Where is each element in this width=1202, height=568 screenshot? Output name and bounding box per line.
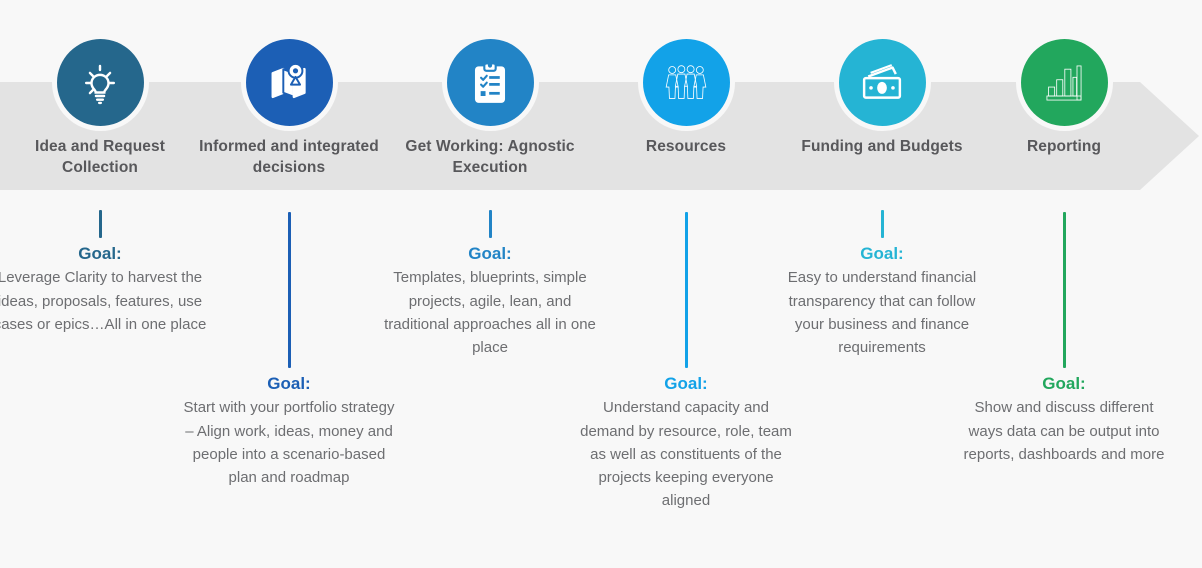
goal-label: Goal: [0, 244, 208, 264]
goal-text: Show and discuss different ways data can… [956, 396, 1172, 466]
clipboard-checklist-icon [447, 39, 534, 126]
goal-callout-resources: Goal:Understand capacity and demand by r… [578, 212, 794, 513]
stage-title: Funding and Budgets [782, 136, 982, 157]
stage-title: Resources [586, 136, 786, 157]
goal-text: Leverage Clarity to harvest the ideas, p… [0, 266, 208, 336]
goal-connector-tick [1063, 212, 1066, 368]
goal-label: Goal: [181, 374, 397, 394]
people-group-icon [643, 39, 730, 126]
infographic-canvas: Idea and Request Collection Informed and… [0, 0, 1202, 568]
goal-callout-reporting: Goal:Show and discuss different ways dat… [956, 212, 1172, 466]
goal-connector-tick [288, 212, 291, 368]
goal-connector-tick [685, 212, 688, 368]
stage-title: Informed and integrated decisions [189, 136, 389, 179]
goal-connector-tick [489, 210, 492, 238]
stage-title: Idea and Request Collection [0, 136, 200, 179]
money-cash-icon [839, 39, 926, 126]
map-pin-icon [246, 39, 333, 126]
bar-chart-icon [1021, 39, 1108, 126]
goal-connector-tick [881, 210, 884, 238]
lightbulb-icon [57, 39, 144, 126]
goal-text: Templates, blueprints, simple projects, … [382, 266, 598, 359]
goal-label: Goal: [956, 374, 1172, 394]
goal-label: Goal: [578, 374, 794, 394]
goal-label: Goal: [382, 244, 598, 264]
stage-title: Reporting [964, 136, 1164, 157]
goal-callout-informed-and-integrated-decisions: Goal:Start with your portfolio strategy … [181, 212, 397, 489]
stage-title: Get Working: Agnostic Execution [390, 136, 590, 179]
goal-callout-idea-and-request-collection: Goal:Leverage Clarity to harvest the ide… [0, 210, 208, 336]
goal-text: Start with your portfolio strategy – Ali… [181, 396, 397, 489]
goal-text: Understand capacity and demand by resour… [578, 396, 794, 512]
goal-connector-tick [99, 210, 102, 238]
goal-callout-get-working-agnostic-execution: Goal:Templates, blueprints, simple proje… [382, 210, 598, 359]
